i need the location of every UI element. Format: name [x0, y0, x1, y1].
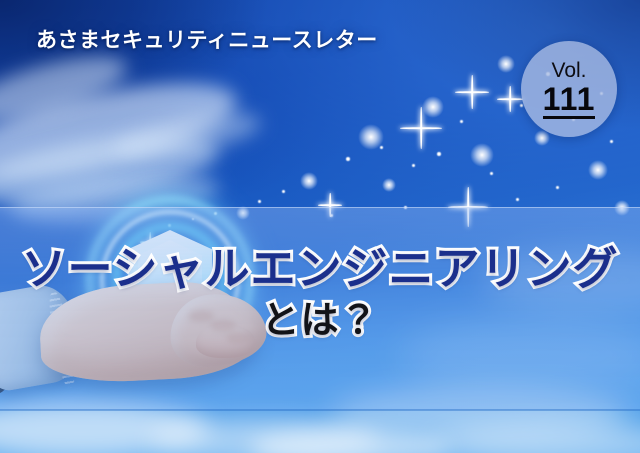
headline-line-2: とは？ — [0, 300, 640, 343]
band-top-edge — [0, 207, 640, 208]
volume-badge: Vol. 111 — [521, 41, 617, 137]
band-bottom-edge — [0, 409, 640, 411]
newsletter-cover: あさまセキュリティニュースレター Vol. 111 ソーシャルエンジニアリング … — [0, 0, 640, 453]
headline-block: ソーシャルエンジニアリング とは？ — [0, 244, 640, 343]
volume-number: 111 — [543, 83, 596, 119]
volume-label: Vol. — [551, 60, 586, 81]
headline-line-1: ソーシャルエンジニアリング — [0, 244, 640, 294]
newsletter-title: あさまセキュリティニュースレター — [36, 24, 378, 54]
